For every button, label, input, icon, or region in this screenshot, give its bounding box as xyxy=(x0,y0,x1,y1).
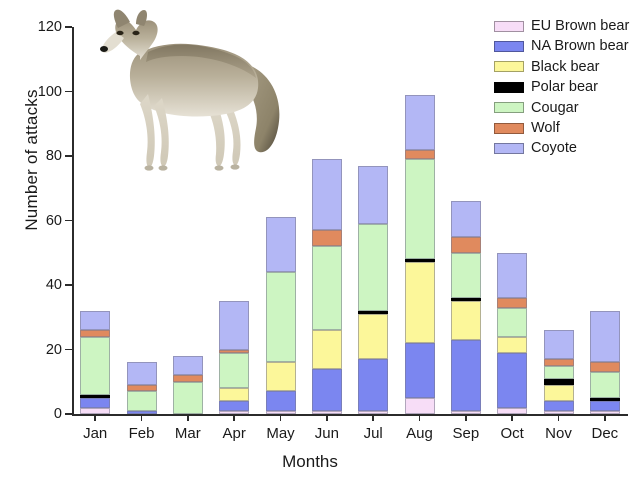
legend-label: Black bear xyxy=(531,60,600,75)
legend-item[interactable]: Wolf xyxy=(494,118,640,138)
bar-segment-coyote[interactable] xyxy=(544,330,574,359)
bar-segment-black-bear[interactable] xyxy=(312,330,342,369)
bar-segment-black-bear[interactable] xyxy=(544,385,574,401)
bar-stack[interactable] xyxy=(127,362,157,414)
bar-segment-eu-brown-bear[interactable] xyxy=(266,411,296,414)
bar-segment-eu-brown-bear[interactable] xyxy=(312,411,342,414)
bar-segment-na-brown-bear[interactable] xyxy=(497,353,527,408)
y-axis-tick xyxy=(65,349,72,351)
x-axis-tick xyxy=(419,414,421,421)
bar-stack[interactable] xyxy=(451,201,481,414)
bar-segment-polar-bear[interactable] xyxy=(544,379,574,385)
bar-segment-coyote[interactable] xyxy=(358,166,388,224)
bar-stack[interactable] xyxy=(266,217,296,414)
bar-segment-coyote[interactable] xyxy=(266,217,296,272)
bar-segment-black-bear[interactable] xyxy=(266,362,296,391)
x-axis-tick-label: Dec xyxy=(575,425,635,442)
bar-segment-eu-brown-bear[interactable] xyxy=(358,411,388,414)
bar-segment-cougar[interactable] xyxy=(358,224,388,311)
y-axis-tick xyxy=(65,26,72,28)
bar-segment-black-bear[interactable] xyxy=(497,337,527,353)
bar-segment-na-brown-bear[interactable] xyxy=(358,359,388,411)
bar-segment-black-bear[interactable] xyxy=(358,314,388,359)
legend-swatch xyxy=(494,143,524,154)
bar-segment-coyote[interactable] xyxy=(497,253,527,298)
bar-stack[interactable] xyxy=(544,330,574,414)
legend-label: Wolf xyxy=(531,121,560,136)
bar-segment-wolf[interactable] xyxy=(544,359,574,365)
bar-segment-eu-brown-bear[interactable] xyxy=(590,411,620,414)
y-axis-tick xyxy=(65,284,72,286)
legend-item[interactable]: EU Brown bear xyxy=(494,16,640,36)
y-axis-tick-label: 80 xyxy=(18,148,62,164)
bar-segment-coyote[interactable] xyxy=(173,356,203,375)
bar-segment-coyote[interactable] xyxy=(405,95,435,150)
bar-stack[interactable] xyxy=(405,95,435,414)
bar-segment-wolf[interactable] xyxy=(405,150,435,160)
legend-swatch xyxy=(494,21,524,32)
legend-label: Cougar xyxy=(531,101,579,116)
y-axis-tick-label: 40 xyxy=(18,277,62,293)
bar-stack[interactable] xyxy=(219,301,249,414)
bar-segment-eu-brown-bear[interactable] xyxy=(405,398,435,414)
legend-label: Coyote xyxy=(531,141,577,156)
bar-segment-polar-bear[interactable] xyxy=(405,259,435,262)
bar-segment-wolf[interactable] xyxy=(497,298,527,308)
bar-stack[interactable] xyxy=(312,159,342,414)
legend-swatch xyxy=(494,82,524,93)
legend-label: Polar bear xyxy=(531,80,598,95)
bar-segment-cougar[interactable] xyxy=(266,272,296,362)
y-axis-tick-label: 120 xyxy=(18,19,62,35)
bar-segment-eu-brown-bear[interactable] xyxy=(544,411,574,414)
bar-segment-na-brown-bear[interactable] xyxy=(451,340,481,411)
x-axis-line xyxy=(72,414,628,416)
bar-segment-black-bear[interactable] xyxy=(219,388,249,401)
bar-segment-black-bear[interactable] xyxy=(405,262,435,343)
x-axis-tick xyxy=(280,414,282,421)
x-axis-tick xyxy=(511,414,513,421)
bar-segment-polar-bear[interactable] xyxy=(80,395,110,398)
bar-segment-coyote[interactable] xyxy=(219,301,249,349)
bar-segment-eu-brown-bear[interactable] xyxy=(451,411,481,414)
legend-item[interactable]: Coyote xyxy=(494,138,640,158)
bar-segment-eu-brown-bear[interactable] xyxy=(80,408,110,414)
bar-segment-coyote[interactable] xyxy=(80,311,110,330)
legend-swatch xyxy=(494,102,524,113)
legend: EU Brown bearNA Brown bearBlack bearPola… xyxy=(494,16,640,159)
bar-segment-cougar[interactable] xyxy=(219,353,249,388)
legend-item[interactable]: NA Brown bear xyxy=(494,36,640,56)
bar-segment-black-bear[interactable] xyxy=(451,301,481,340)
bar-segment-polar-bear[interactable] xyxy=(590,398,620,401)
bar-segment-cougar[interactable] xyxy=(405,159,435,259)
x-axis-tick xyxy=(604,414,606,421)
bar-stack[interactable] xyxy=(358,166,388,414)
bar-segment-cougar[interactable] xyxy=(590,372,620,398)
x-axis-tick xyxy=(326,414,328,421)
stacked-bar-chart: Number of attacks 020406080100120 JanFeb… xyxy=(0,0,640,477)
x-axis-tick xyxy=(372,414,374,421)
bar-segment-na-brown-bear[interactable] xyxy=(127,411,157,414)
bar-segment-cougar[interactable] xyxy=(451,253,481,298)
y-axis-tick xyxy=(65,220,72,222)
bar-segment-na-brown-bear[interactable] xyxy=(312,369,342,411)
y-axis-tick-label: 100 xyxy=(18,84,62,100)
legend-item[interactable]: Black bear xyxy=(494,57,640,77)
x-axis-tick xyxy=(558,414,560,421)
y-axis-tick xyxy=(65,155,72,157)
y-axis-tick-label: 0 xyxy=(18,406,62,422)
y-axis-tick-label: 20 xyxy=(18,342,62,358)
bar-segment-eu-brown-bear[interactable] xyxy=(497,408,527,414)
bar-segment-coyote[interactable] xyxy=(590,311,620,363)
bar-stack[interactable] xyxy=(80,311,110,414)
bar-segment-na-brown-bear[interactable] xyxy=(544,401,574,411)
bar-segment-wolf[interactable] xyxy=(451,237,481,253)
x-axis-tick xyxy=(141,414,143,421)
legend-swatch xyxy=(494,61,524,72)
bar-stack[interactable] xyxy=(590,311,620,414)
bar-segment-coyote[interactable] xyxy=(312,159,342,230)
bar-segment-cougar[interactable] xyxy=(173,382,203,414)
bar-segment-cougar[interactable] xyxy=(127,391,157,410)
x-axis-tick xyxy=(465,414,467,421)
bar-segment-na-brown-bear[interactable] xyxy=(266,391,296,410)
y-axis-tick-label: 60 xyxy=(18,213,62,229)
x-axis-title: Months xyxy=(60,452,560,472)
bar-segment-polar-bear[interactable] xyxy=(358,311,388,314)
y-axis-tick xyxy=(65,91,72,93)
legend-swatch xyxy=(494,41,524,52)
bar-segment-wolf[interactable] xyxy=(173,375,203,381)
bar-segment-cougar[interactable] xyxy=(80,337,110,395)
y-axis-tick xyxy=(65,413,72,415)
x-axis-tick xyxy=(94,414,96,421)
bar-segment-wolf[interactable] xyxy=(127,385,157,391)
legend-label: NA Brown bear xyxy=(531,39,629,54)
bar-segment-wolf[interactable] xyxy=(219,350,249,353)
legend-item[interactable]: Polar bear xyxy=(494,77,640,97)
bar-segment-polar-bear[interactable] xyxy=(451,298,481,301)
bar-segment-na-brown-bear[interactable] xyxy=(405,343,435,398)
bar-segment-na-brown-bear[interactable] xyxy=(80,398,110,408)
bar-segment-cougar[interactable] xyxy=(497,308,527,337)
bar-segment-coyote[interactable] xyxy=(127,362,157,385)
bar-segment-na-brown-bear[interactable] xyxy=(219,401,249,411)
bar-segment-cougar[interactable] xyxy=(544,366,574,379)
bar-segment-wolf[interactable] xyxy=(80,330,110,336)
x-axis-tick xyxy=(187,414,189,421)
x-axis-tick xyxy=(233,414,235,421)
bar-segment-coyote[interactable] xyxy=(451,201,481,236)
legend-swatch xyxy=(494,123,524,134)
bar-segment-wolf[interactable] xyxy=(312,230,342,246)
bar-segment-cougar[interactable] xyxy=(312,246,342,330)
legend-item[interactable]: Cougar xyxy=(494,98,640,118)
bar-segment-na-brown-bear[interactable] xyxy=(590,401,620,411)
bar-stack[interactable] xyxy=(173,356,203,414)
legend-label: EU Brown bear xyxy=(531,19,629,34)
bar-stack[interactable] xyxy=(497,253,527,414)
bar-segment-eu-brown-bear[interactable] xyxy=(219,411,249,414)
bar-segment-wolf[interactable] xyxy=(590,362,620,372)
